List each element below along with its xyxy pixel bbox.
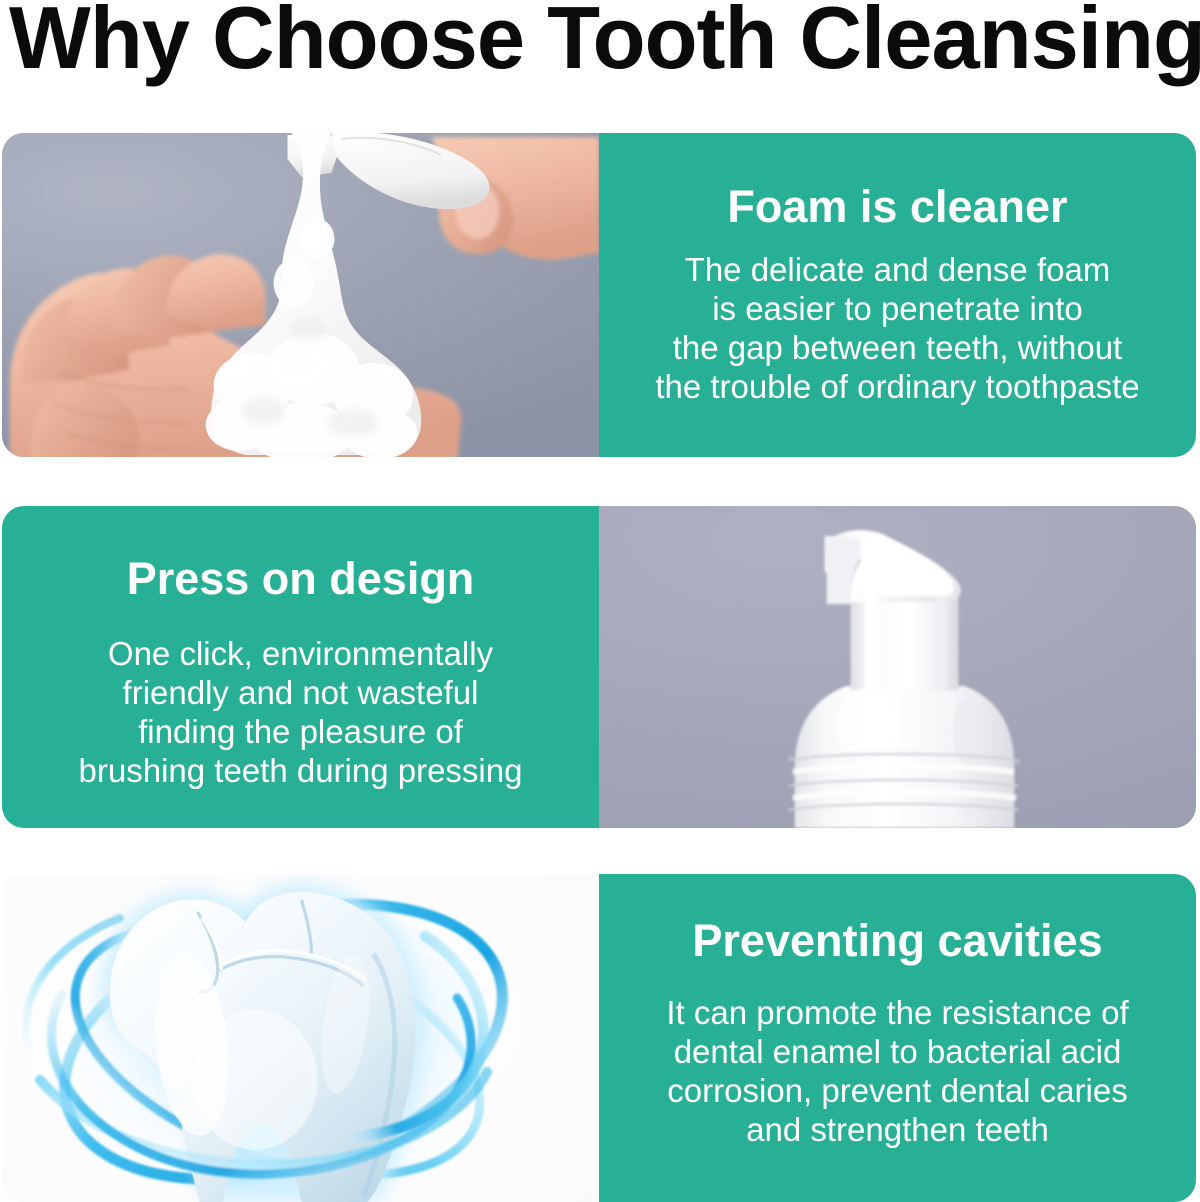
panel-text-foam-is-cleaner: Foam is cleaner The delicate and dense f… <box>599 133 1196 457</box>
panel-text-press-on-design: Press on design One click, environmental… <box>2 506 599 828</box>
tooth-with-blue-rings-illustration <box>2 874 599 1202</box>
panel-body: The delicate and dense foam is easier to… <box>655 250 1139 406</box>
panel-body: One click, environmentally friendly and … <box>79 634 523 790</box>
panel-heading: Foam is cleaner <box>727 182 1067 232</box>
foam-pump-nozzle-photo <box>599 506 1196 828</box>
panel-heading: Preventing cavities <box>692 916 1102 966</box>
feature-row-foam-is-cleaner: Foam is cleaner The delicate and dense f… <box>2 133 1196 457</box>
tooth-graphic <box>2 874 599 1202</box>
panel-body: It can promote the resistance of dental … <box>666 993 1128 1149</box>
foam-pump-nozzle-illustration <box>599 506 1196 828</box>
hand-with-foam-illustration <box>2 133 599 457</box>
panel-text-preventing-cavities: Preventing cavities It can promote the r… <box>599 874 1196 1202</box>
feature-row-press-on-design: Press on design One click, environmental… <box>2 506 1196 828</box>
hand-with-foam-photo <box>2 133 599 457</box>
infographic-page: Why Choose Tooth Cleansing Mousse <box>0 0 1200 1202</box>
feature-row-preventing-cavities: Preventing cavities It can promote the r… <box>2 874 1196 1202</box>
panel-heading: Press on design <box>127 554 475 604</box>
page-title: Why Choose Tooth Cleansing Mousse <box>9 0 1191 86</box>
